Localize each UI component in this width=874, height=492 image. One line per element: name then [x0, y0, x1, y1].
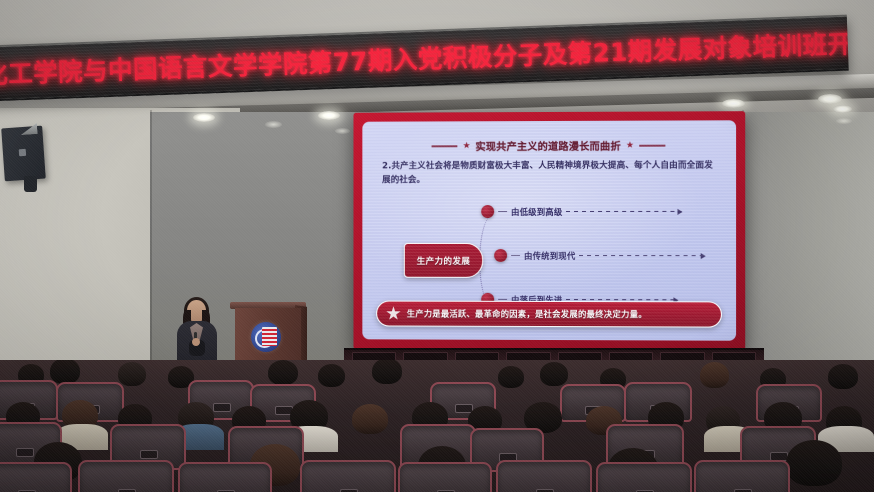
university-crest-icon [251, 322, 281, 352]
ceiling-light-1 [193, 113, 215, 122]
diagram-branch-1: 由低级到高级 [481, 205, 681, 218]
diagram-main-label: 生产力的发展 [404, 243, 483, 278]
title-rule-right [639, 144, 665, 146]
star-icon-right: ★ [626, 140, 634, 150]
ceiling-light-2 [265, 121, 282, 128]
star-icon-left: ★ [463, 141, 471, 151]
auditorium-photo: 化学化工学院与中国语言文学学院第77期入党积极分子及第21期发展对象培训班开幕式… [0, 0, 874, 492]
audience-head [786, 440, 842, 486]
branch-tick [498, 211, 507, 213]
title-rule-left [432, 145, 458, 147]
branch-2-text: 由传统到现代 [524, 249, 575, 261]
slide-body-text: 2.共产主义社会将是物质财富极大丰富、人民精神境界极大提高、每个人自由而全面发展… [382, 160, 718, 189]
audience-head [540, 362, 568, 386]
audience-head [498, 366, 524, 388]
branch-1-arrow [566, 211, 681, 212]
slide-content: ★ 实现共产主义的道路漫长而曲折 ★ 2.共产主义社会将是物质财富极大丰富、人民… [362, 120, 736, 340]
seat [596, 462, 692, 492]
branch-dot-icon [481, 205, 494, 218]
projection-screen: ★ 实现共产主义的道路漫长而曲折 ★ 2.共产主义社会将是物质财富极大丰富、人民… [353, 111, 745, 351]
seat [300, 460, 396, 492]
ceiling-light-8 [833, 105, 852, 113]
branch-tick [511, 255, 520, 257]
speaker-mount [24, 176, 37, 192]
seat [0, 462, 72, 492]
slide-footer-text: 生产力是最活跃、最革命的因素，是社会发展的最终决定力量。 [407, 308, 647, 321]
branch-2-arrow [579, 255, 704, 256]
seat [78, 460, 174, 492]
diagram-branch-2: 由传统到现代 [494, 249, 705, 262]
audience-area [0, 360, 874, 492]
audience-head [372, 360, 402, 384]
slide-title: 实现共产主义的道路漫长而曲折 [476, 138, 621, 153]
seat [496, 460, 592, 492]
seat [398, 462, 492, 492]
screen-display-area: ★ 实现共产主义的道路漫长而曲折 ★ 2.共产主义社会将是物质财富极大丰富、人民… [362, 120, 736, 340]
audience-head [268, 360, 298, 385]
branch-1-text: 由低级到高级 [511, 205, 562, 217]
branch-dot-icon [494, 249, 507, 262]
ceiling-light-4 [335, 128, 350, 134]
audience-head [50, 360, 80, 384]
presenter-hand [192, 338, 200, 346]
wall-speaker [1, 126, 46, 182]
speaker-grille-dot [19, 149, 26, 156]
slide-footer-banner: 生产力是最活跃、最革命的因素，是社会发展的最终决定力量。 [376, 301, 722, 328]
seat [694, 460, 790, 492]
audience-head [118, 362, 146, 386]
audience-head [352, 404, 388, 434]
audience-head [318, 364, 345, 387]
ceiling-light-5 [722, 99, 745, 108]
crest-stripes [262, 327, 277, 346]
audience-head [828, 364, 858, 389]
slide-title-row: ★ 实现共产主义的道路漫长而曲折 ★ [376, 137, 722, 153]
ceiling-light-7 [818, 94, 842, 104]
diagram-main-label-text: 生产力的发展 [417, 254, 471, 266]
ceiling-light-3 [318, 111, 340, 120]
audience-head [700, 362, 729, 388]
ceiling-light-9 [836, 118, 852, 124]
seat [178, 462, 272, 492]
star-icon [386, 306, 401, 321]
